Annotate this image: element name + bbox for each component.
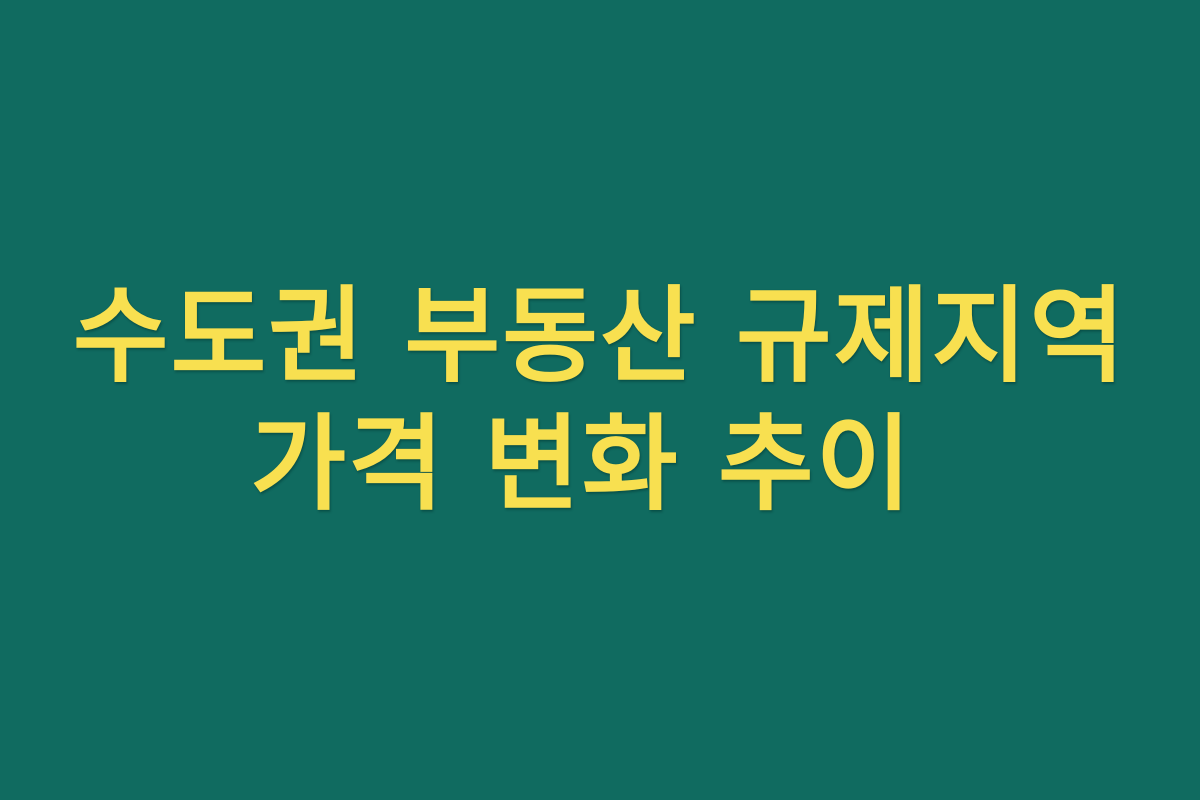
title-line-primary: 수도권 부동산 규제지역 bbox=[50, 272, 1150, 400]
title-line-secondary: 가격 변화 추이 bbox=[32, 400, 1132, 528]
title-block: 수도권 부동산 규제지역 가격 변화 추이 bbox=[50, 272, 1150, 528]
title-card: 수도권 부동산 규제지역 가격 변화 추이 bbox=[0, 0, 1200, 800]
